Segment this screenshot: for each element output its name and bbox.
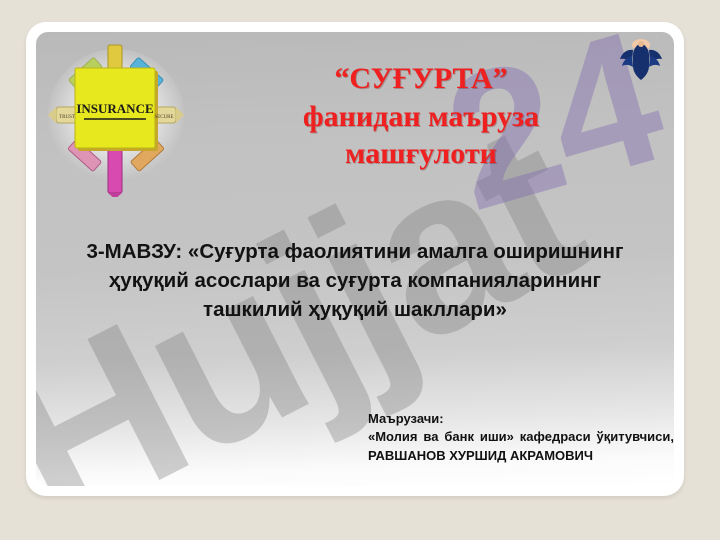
slide-title-line-3: машғулоти [186,135,656,173]
lecturer-label: Маърузачи: [368,410,674,428]
lecturer-block: Маърузачи: «Молия ва банк иши» кафедраси… [368,410,674,465]
insurance-logo-center-label: INSURANCE [76,101,153,116]
insurance-logo: INSURANCE TRUST SECURE [42,37,190,197]
slide-canvas: Hujjat 24 [36,32,674,486]
insurance-logo-right-label: SECURE [154,115,173,120]
slide-title: “СУҒУРТА” фанидан маъруза машғулоти [186,60,656,173]
insurance-logo-left-label: TRUST [59,115,75,120]
presentation-page: Hujjat 24 [0,0,720,540]
slide-title-line-2: фанидан маъруза [186,98,656,136]
slide-title-line-1: “СУҒУРТА” [186,60,656,98]
lecturer-name-text: «Молия ва банк иши» кафедраси ўқитувчиси… [368,428,674,465]
subject-text: 3-МАВЗУ: «Суғурта фаолиятини амалга ошир… [64,237,646,324]
slide-card: Hujjat 24 [26,22,684,496]
